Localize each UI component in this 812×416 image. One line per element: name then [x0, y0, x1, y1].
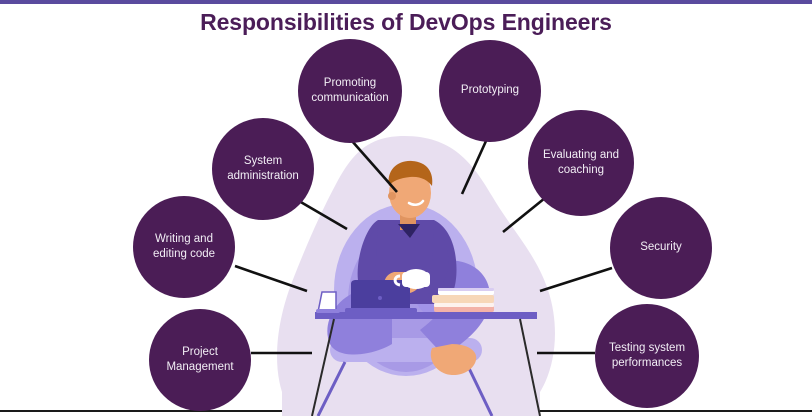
node-label-line2: communication — [302, 91, 398, 106]
node-label-line2: Management — [153, 360, 247, 375]
node-writing-and-editing-code[interactable]: Writing and editing code — [133, 196, 235, 298]
node-label-line2: coaching — [532, 163, 630, 178]
connector-evaluating-and-coaching — [503, 198, 545, 232]
node-testing-system-performances[interactable]: Testing system performances — [595, 304, 699, 408]
connector-security — [540, 268, 612, 291]
node-label-line1: Testing system — [599, 341, 695, 356]
node-label-line1: Promoting — [302, 76, 398, 91]
node-label-line1: Prototyping — [443, 83, 537, 98]
infographic-canvas: Responsibilities of DevOps Engineers — [0, 0, 812, 416]
node-label-line2: editing code — [137, 247, 231, 262]
node-label-line1: Evaluating and — [532, 148, 630, 163]
node-prototyping[interactable]: Prototyping — [439, 40, 541, 142]
connector-system-administration — [299, 201, 347, 229]
node-label-line1: Project — [153, 345, 247, 360]
connector-writing-and-editing-code — [235, 266, 307, 291]
page-title: Responsibilities of DevOps Engineers — [0, 9, 812, 36]
node-project-management[interactable]: Project Management — [149, 309, 251, 411]
connector-prototyping — [462, 141, 486, 194]
node-label-line2: administration — [216, 169, 310, 184]
node-label-line1: Security — [614, 240, 708, 255]
node-label-line2: performances — [599, 356, 695, 371]
node-system-administration[interactable]: System administration — [212, 118, 314, 220]
node-evaluating-and-coaching[interactable]: Evaluating and coaching — [528, 110, 634, 216]
node-label-line1: Writing and — [137, 232, 231, 247]
node-promoting-communication[interactable]: Promoting communication — [298, 39, 402, 143]
node-security[interactable]: Security — [610, 197, 712, 299]
connector-promoting-communication — [352, 141, 397, 192]
node-label-line1: System — [216, 154, 310, 169]
